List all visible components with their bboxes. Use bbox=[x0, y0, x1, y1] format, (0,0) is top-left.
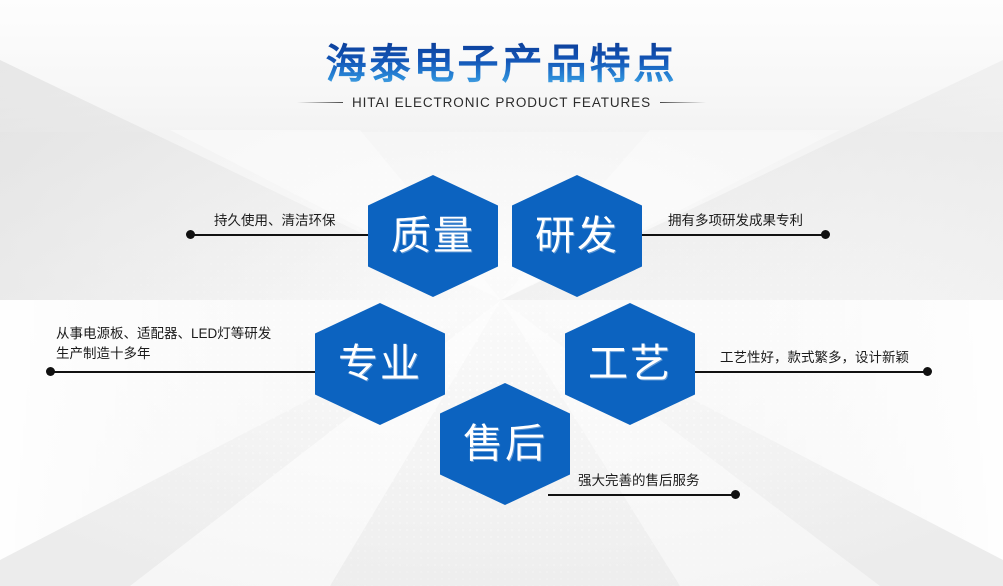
subtitle-rule-left bbox=[297, 102, 343, 103]
connector-dot-professional bbox=[46, 367, 55, 376]
hexagon-label-rnd: 研发 bbox=[535, 216, 619, 256]
hexagon-label-professional: 专业 bbox=[338, 344, 422, 384]
page-subtitle: HITAI ELECTRONIC PRODUCT FEATURES bbox=[352, 95, 651, 110]
callout-text-quality: 持久使用、清洁环保 bbox=[214, 211, 336, 231]
callout-text-process: 工艺性好，款式繁多，设计新颖 bbox=[720, 348, 909, 368]
hexagon-label-process: 工艺 bbox=[588, 344, 672, 384]
callout-text-rnd: 拥有多项研发成果专利 bbox=[668, 211, 803, 231]
connector-line-process bbox=[690, 371, 927, 373]
feature-infographic: 海泰电子产品特点 HITAI ELECTRONIC PRODUCT FEATUR… bbox=[0, 0, 1003, 586]
hexagon-label-aftersales: 售后 bbox=[463, 424, 547, 464]
connector-dot-quality bbox=[186, 230, 195, 239]
connector-dot-aftersales bbox=[731, 490, 740, 499]
connector-dot-process bbox=[923, 367, 932, 376]
connector-line-rnd bbox=[637, 234, 825, 236]
hexagon-label-quality: 质量 bbox=[391, 216, 475, 256]
connector-line-aftersales bbox=[548, 494, 735, 496]
connector-line-quality bbox=[190, 234, 372, 236]
callout-text-professional: 从事电源板、适配器、LED灯等研发 生产制造十多年 bbox=[56, 324, 271, 364]
header: 海泰电子产品特点 HITAI ELECTRONIC PRODUCT FEATUR… bbox=[0, 42, 1003, 110]
page-title: 海泰电子产品特点 bbox=[0, 42, 1003, 88]
connector-dot-rnd bbox=[821, 230, 830, 239]
callout-text-aftersales: 强大完善的售后服务 bbox=[578, 471, 700, 491]
subtitle-row: HITAI ELECTRONIC PRODUCT FEATURES bbox=[0, 95, 1003, 110]
connector-line-professional bbox=[50, 371, 322, 373]
subtitle-rule-right bbox=[660, 102, 706, 103]
